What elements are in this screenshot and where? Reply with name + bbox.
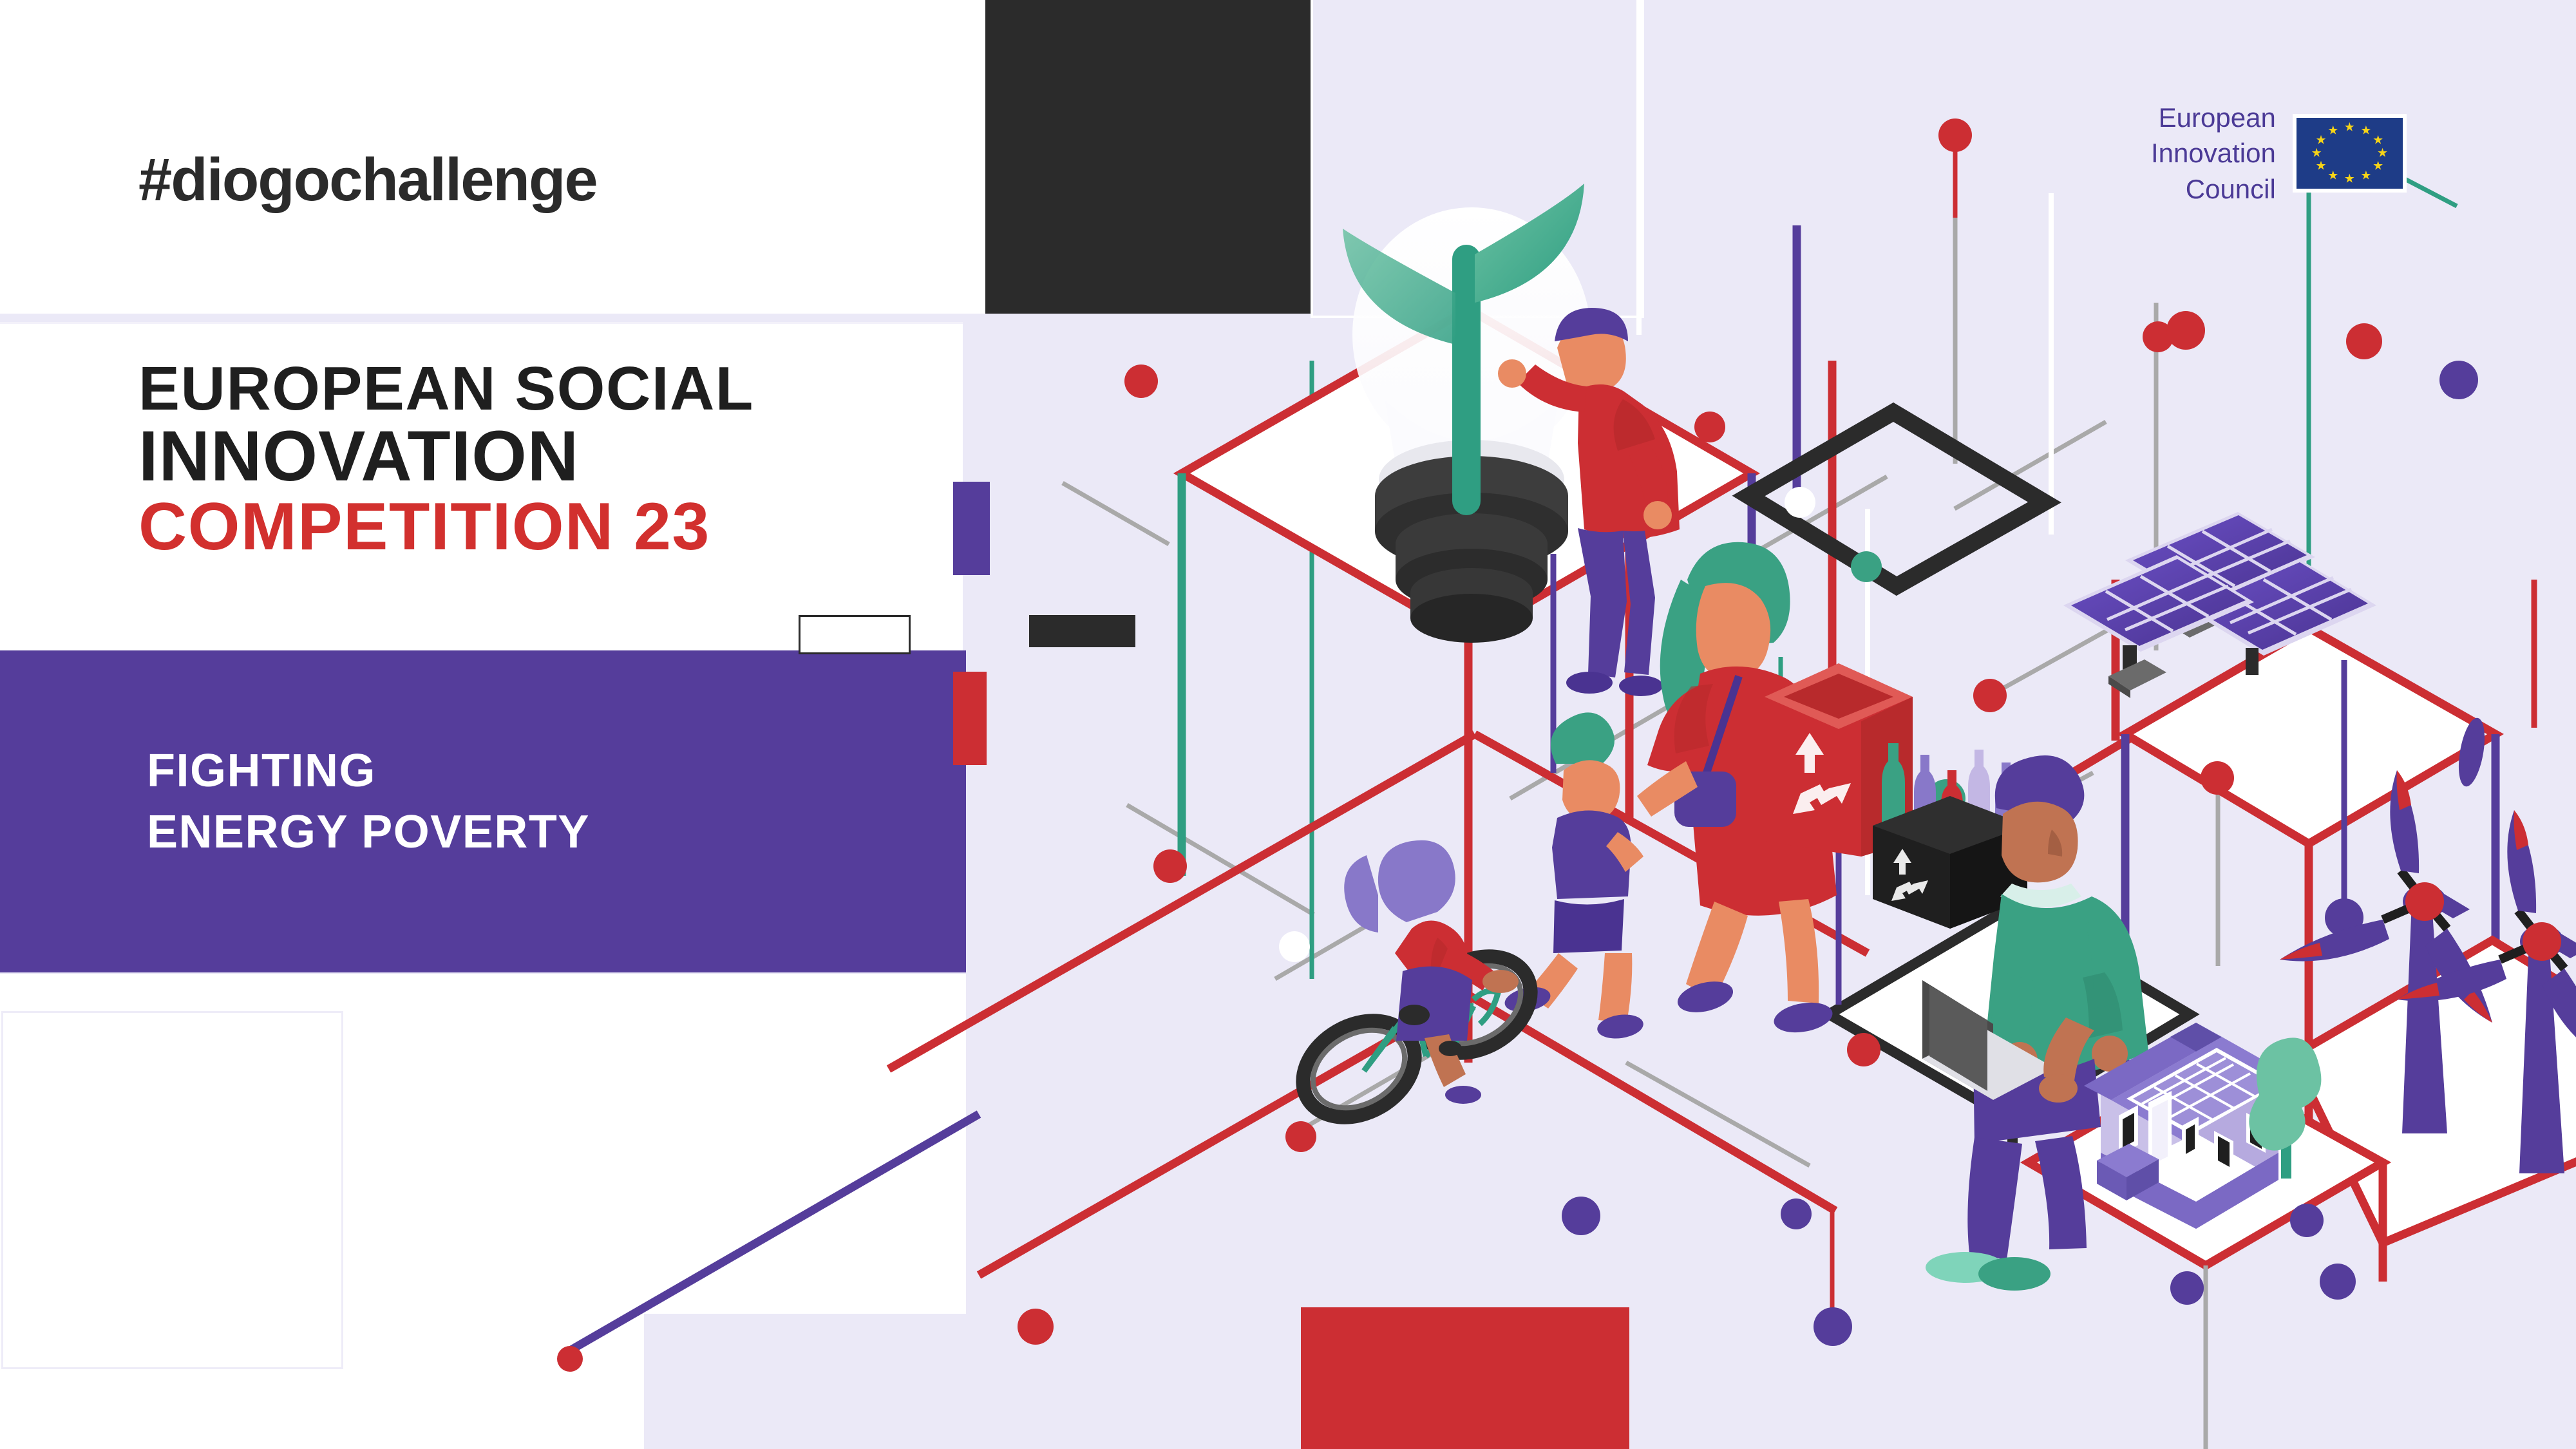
eic-line-1: European: [2151, 100, 2276, 135]
eu-star-icon: ★: [2377, 147, 2388, 160]
eu-star-icon: ★: [2315, 160, 2326, 173]
red-block-bottom: [1301, 1307, 1629, 1449]
hashtag-label: #diogochallenge: [138, 145, 597, 214]
eu-star-icon: ★: [2344, 173, 2355, 185]
eic-logo-text: European Innovation Council: [2151, 100, 2276, 207]
eic-line-3: Council: [2151, 171, 2276, 207]
eu-star-icon: ★: [2360, 170, 2371, 182]
eu-star-icon: ★: [2372, 135, 2383, 147]
eu-star-icon: ★: [2315, 135, 2326, 147]
eu-star-icon: ★: [2360, 125, 2371, 137]
subtitle: FIGHTING ENERGY POVERTY: [147, 741, 590, 863]
eu-star-icon: ★: [2372, 160, 2383, 173]
white-outline-frame-top: [1311, 0, 1644, 318]
black-block-top: [985, 0, 1311, 314]
lavender-strip-bottom: [644, 1314, 979, 1449]
eu-flag-icon: ★★★★★★★★★★★★: [2297, 118, 2403, 189]
eu-star-icon: ★: [2327, 125, 2338, 137]
eu-star-icon: ★: [2327, 170, 2338, 182]
outlined-box-bottom-left: [1, 1011, 343, 1369]
accent-bar-black: [1029, 615, 1135, 647]
eu-star-icon: ★: [2344, 121, 2355, 133]
title-line-2: INNOVATION: [138, 421, 754, 493]
eu-star-icon: ★: [2311, 147, 2322, 160]
page-title: EUROPEAN SOCIAL INNOVATION COMPETITION 2…: [138, 357, 754, 561]
poster-canvas: #diogochallenge EUROPEAN SOCIAL INNOVATI…: [0, 0, 2576, 1449]
eu-flag-frame: ★★★★★★★★★★★★: [2293, 114, 2407, 193]
eic-logo: European Innovation Council ★★★★★★★★★★★★: [2151, 100, 2407, 207]
eic-line-2: Innovation: [2151, 135, 2276, 171]
subtitle-line-1: FIGHTING: [147, 741, 590, 802]
accent-bar-red: [953, 672, 987, 765]
title-line-1: EUROPEAN SOCIAL: [138, 357, 754, 421]
accent-bar-purple: [953, 482, 990, 575]
accent-chip-white: [799, 615, 911, 654]
subtitle-line-2: ENERGY POVERTY: [147, 802, 590, 863]
title-line-3: COMPETITION 23: [138, 493, 754, 561]
